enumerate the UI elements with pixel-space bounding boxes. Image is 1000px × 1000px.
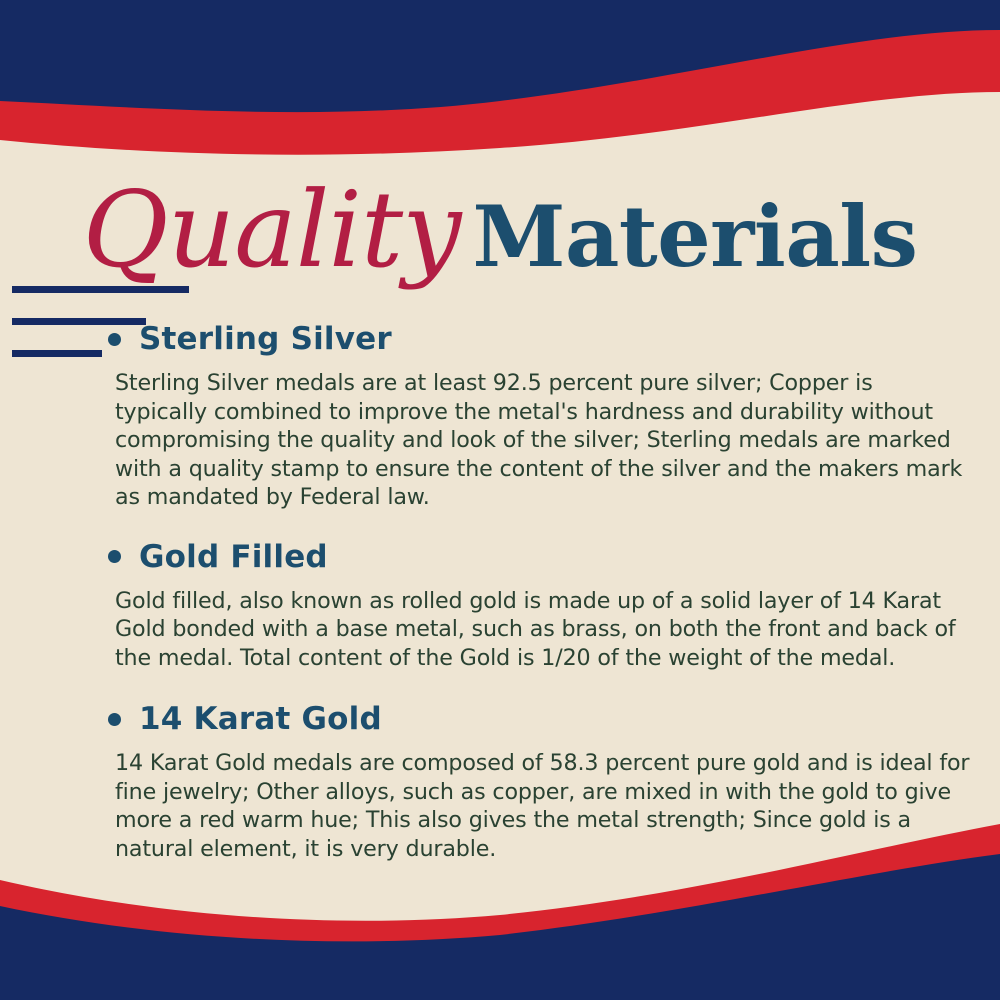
- bullet-dot-icon: [108, 550, 121, 563]
- section-title-sterling-silver: Sterling Silver: [139, 322, 392, 356]
- section-title-14-karat-gold: 14 Karat Gold: [139, 702, 382, 736]
- title-word-quality: Quality: [83, 169, 461, 291]
- section-spacer: [0, 672, 1000, 702]
- top-wave-decoration: [0, 0, 1000, 190]
- section-heading-row: 14 Karat Gold: [0, 702, 1000, 736]
- poster-canvas: QualityMaterials Sterling Silver Sterlin…: [0, 0, 1000, 1000]
- section-heading-row: Sterling Silver: [0, 322, 1000, 356]
- section-title-gold-filled: Gold Filled: [139, 540, 328, 574]
- section-heading-row: Gold Filled: [0, 540, 1000, 574]
- materials-list: Sterling Silver Sterling Silver medals a…: [0, 322, 1000, 863]
- page-title: QualityMaterials: [0, 178, 1000, 283]
- title-word-materials: Materials: [473, 187, 918, 286]
- section-spacer: [0, 512, 1000, 540]
- section-gold-filled: Gold Filled Gold filled, also known as r…: [0, 540, 1000, 673]
- section-14-karat-gold: 14 Karat Gold 14 Karat Gold medals are c…: [0, 702, 1000, 863]
- bullet-dot-icon: [108, 333, 121, 346]
- bullet-dot-icon: [108, 713, 121, 726]
- section-body-14-karat-gold: 14 Karat Gold medals are composed of 58.…: [115, 749, 970, 863]
- section-sterling-silver: Sterling Silver Sterling Silver medals a…: [0, 322, 1000, 512]
- decorative-rule-long: [12, 286, 189, 293]
- section-body-sterling-silver: Sterling Silver medals are at least 92.5…: [115, 369, 970, 512]
- section-body-gold-filled: Gold filled, also known as rolled gold i…: [115, 587, 970, 673]
